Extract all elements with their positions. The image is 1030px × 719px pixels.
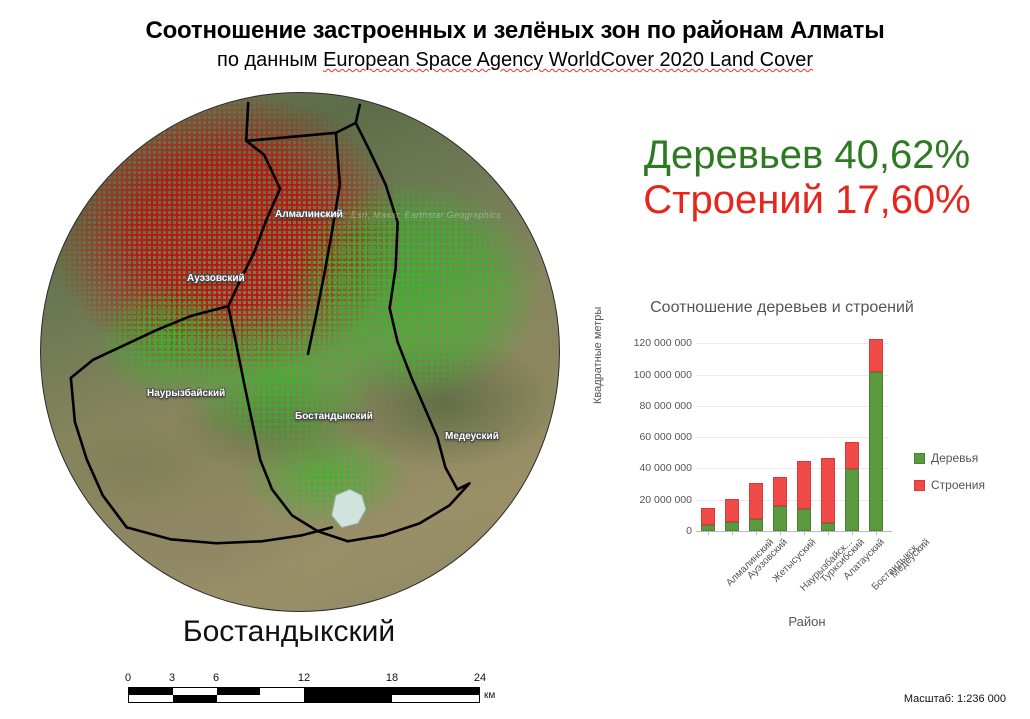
bar-segment-buildings[interactable]: [701, 508, 716, 524]
scale-tick-24: 24: [474, 672, 486, 684]
map-panel[interactable]: Алмалинский Ауэзовский Наурызбайский Бос…: [18, 88, 578, 638]
bar-segment-buildings[interactable]: [749, 483, 764, 519]
title-block: Соотношение застроенных и зелёных зон по…: [0, 18, 1030, 71]
x-tick-mark: [708, 531, 709, 535]
page-title: Соотношение застроенных и зелёных зон по…: [0, 18, 1030, 43]
y-tick-label: 40 000 000: [639, 462, 692, 474]
legend-swatch-trees-icon: [914, 453, 925, 464]
bar-segment-trees[interactable]: [773, 506, 788, 531]
legend-label-buildings: Строения: [931, 478, 985, 492]
scale-tick-12: 12: [298, 672, 310, 684]
scale-bar-ticks: 0 3 6 12 18 24: [128, 672, 480, 686]
y-tick-label: 20 000 000: [639, 494, 692, 506]
bar-segment-buildings[interactable]: [845, 442, 860, 469]
legend-item-trees[interactable]: Деревья: [914, 451, 985, 465]
x-tick-mark: [756, 531, 757, 535]
bar-segment-trees[interactable]: [749, 519, 764, 531]
chart-legend[interactable]: Деревья Строения: [914, 451, 985, 505]
scale-tick-3: 3: [169, 672, 175, 684]
x-tick-mark: [804, 531, 805, 535]
bar-segment-trees[interactable]: [725, 522, 740, 531]
district-boundaries: [41, 93, 559, 611]
scale-tick-18: 18: [386, 672, 398, 684]
bar-segment-buildings[interactable]: [869, 339, 884, 372]
y-tick-label: 120 000 000: [634, 337, 692, 349]
chart-x-axis-label: Район: [692, 614, 922, 629]
legend-swatch-buildings-icon: [914, 480, 925, 491]
bar-group[interactable]: [821, 458, 836, 531]
subtitle-source: European Space Agency WorldCover 2020 La…: [323, 49, 813, 71]
scale-bar-graphic: [128, 687, 480, 703]
y-tick-label: 100 000 000: [634, 369, 692, 381]
map-caption: Бостандыкский: [0, 615, 578, 649]
bar-group[interactable]: [797, 461, 812, 532]
bar-segment-trees[interactable]: [797, 509, 812, 531]
scale-bar-unit: км: [484, 690, 495, 701]
bar-segment-trees[interactable]: [821, 523, 836, 531]
chart-y-axis-label: Квадратные метры: [592, 307, 604, 404]
bar-segment-buildings[interactable]: [773, 477, 788, 506]
y-tick-label: 80 000 000: [639, 400, 692, 412]
stat-buildings-percent: Строений 17,60%: [604, 178, 1010, 223]
bar-group[interactable]: [749, 483, 764, 531]
x-tick-mark: [780, 531, 781, 535]
x-tick-mark: [732, 531, 733, 535]
summary-statistics: Деревьев 40,62% Строений 17,60%: [604, 133, 1010, 223]
legend-label-trees: Деревья: [931, 451, 978, 465]
x-tick-mark: [828, 531, 829, 535]
scale-tick-6: 6: [213, 672, 219, 684]
gridline: [696, 437, 888, 438]
bar-chart-panel[interactable]: Соотношение деревьев и строений Квадратн…: [596, 296, 1026, 636]
chart-title: Соотношение деревьев и строений: [596, 299, 968, 317]
scale-bar: 0 3 6 12 18 24 км: [128, 672, 480, 703]
legend-item-buildings[interactable]: Строения: [914, 478, 985, 492]
bar-group[interactable]: [845, 442, 860, 531]
map-circle[interactable]: Алмалинский Ауэзовский Наурызбайский Бос…: [40, 92, 560, 612]
bar-group[interactable]: [773, 477, 788, 531]
bar-segment-trees[interactable]: [869, 372, 884, 531]
y-tick-label: 60 000 000: [639, 431, 692, 443]
chart-plot-area[interactable]: 020 000 00040 000 00060 000 00080 000 00…: [696, 334, 888, 531]
bar-segment-buildings[interactable]: [797, 461, 812, 510]
gridline: [696, 375, 888, 376]
chart-x-axis-line: [696, 531, 892, 532]
bar-group[interactable]: [725, 499, 740, 531]
x-tick-mark: [852, 531, 853, 535]
gridline: [696, 343, 888, 344]
scale-tick-0: 0: [125, 672, 131, 684]
bar-segment-trees[interactable]: [845, 469, 860, 531]
x-tick-mark: [876, 531, 877, 535]
scale-ratio-text: Масштаб: 1:236 000: [904, 693, 1006, 705]
bar-group[interactable]: [869, 339, 884, 531]
page-subtitle: по данным European Space Agency WorldCov…: [0, 49, 1030, 71]
bar-segment-buildings[interactable]: [821, 458, 836, 523]
y-tick-label: 0: [686, 525, 692, 537]
map-attribution-watermark: Sources: Esri, Maxar, Earthstar Geograph…: [310, 210, 501, 220]
subtitle-prefix: по данным: [217, 49, 323, 71]
stat-trees-percent: Деревьев 40,62%: [604, 133, 1010, 178]
bar-group[interactable]: [701, 508, 716, 531]
bar-segment-buildings[interactable]: [725, 499, 740, 521]
gridline: [696, 406, 888, 407]
